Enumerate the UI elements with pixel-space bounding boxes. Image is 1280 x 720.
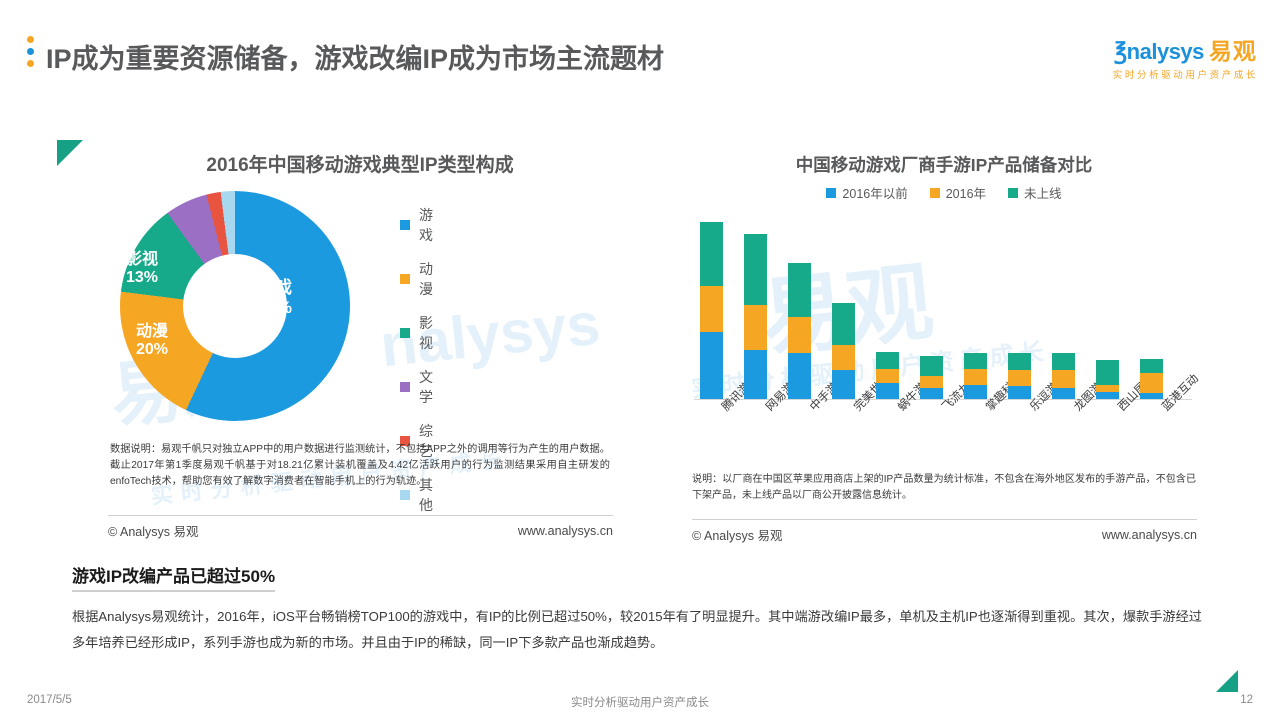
bar-segment [1140, 373, 1163, 393]
bar-column[interactable] [832, 303, 855, 399]
footer-page-number: 12 [1240, 694, 1253, 706]
pie-legend-item[interactable]: 游戏 [400, 205, 433, 245]
bar-segment [832, 345, 855, 371]
page-title: IP成为重要资源储备，游戏改编IP成为市场主流题材 [46, 37, 664, 76]
pie-legend-swatch-icon [400, 490, 410, 500]
pie-url[interactable]: www.analysys.cn [518, 524, 613, 538]
bar-column[interactable] [876, 352, 899, 399]
bar-legend-swatch-icon [930, 188, 940, 198]
page-footer: 2017/5/5 实时分析驱动用户资产成长 12 [0, 686, 1280, 720]
bar-column[interactable] [700, 222, 723, 399]
bar-segment [744, 350, 767, 399]
bar-column[interactable] [788, 263, 811, 399]
bar-segment [876, 369, 899, 383]
footer-slogan: 实时分析驱动用户资产成长 [0, 694, 1280, 710]
bar-chart-panel: 中国移动游戏厂商手游IP产品储备对比 2016年以前2016年未上线 腾讯游戏网… [688, 152, 1200, 400]
bar-segment [744, 305, 767, 351]
bar-segment [964, 369, 987, 385]
bar-segment [1096, 385, 1119, 392]
title-dots-icon [27, 36, 35, 72]
bar-segment [920, 356, 943, 376]
bar-column[interactable] [1008, 353, 1031, 399]
bar-segment [1008, 386, 1031, 399]
pie-legend-swatch-icon [400, 328, 410, 338]
bar-url[interactable]: www.analysys.cn [1102, 528, 1197, 542]
bar-segment [744, 234, 767, 304]
bar-column[interactable] [744, 234, 767, 399]
bar-segment [964, 385, 987, 399]
pie-legend-item[interactable]: 动漫 [400, 259, 433, 299]
bar-segment [1096, 360, 1119, 384]
bar-legend-label: 未上线 [1024, 183, 1062, 202]
bar-segment [964, 353, 987, 369]
pie-label-anime: 动漫 20% [136, 323, 168, 360]
bar-column[interactable] [1096, 360, 1119, 399]
bar-segment [920, 388, 943, 399]
bar-legend-item[interactable]: 2016年以前 [826, 183, 907, 202]
pie-chart-note: 数据说明：易观千帆只对独立APP中的用户数据进行监测统计，不包括APP之外的调用… [110, 442, 610, 489]
pie-chart-panel: 2016年中国移动游戏典型IP类型构成 游戏 57% 动漫 20% 影视 13%… [100, 150, 620, 433]
bar-chart-note: 说明：以厂商在中国区苹果应用商店上架的IP产品数量为统计标准，不包含在海外地区发… [692, 472, 1196, 503]
bar-segment [1140, 393, 1163, 399]
bar-column[interactable] [964, 353, 987, 399]
bar-legend-swatch-icon [1008, 188, 1018, 198]
pie-legend-label: 动漫 [419, 259, 433, 299]
bar-segment [700, 222, 723, 286]
pie-legend-item[interactable]: 影视 [400, 313, 433, 353]
donut-ring [120, 191, 350, 421]
bar-segment [832, 303, 855, 344]
summary-heading: 游戏IP改编产品已超过50% [72, 562, 275, 592]
bar-segment [788, 353, 811, 399]
pie-chart-title: 2016年中国移动游戏典型IP类型构成 [100, 150, 620, 177]
bar-segment [920, 376, 943, 387]
decor-triangle-left-icon [57, 140, 83, 166]
bar-segment [876, 383, 899, 399]
logo-cn-text: 易观 [1209, 38, 1257, 64]
bar-legend-label: 2016年 [946, 183, 986, 202]
bar-segment [832, 370, 855, 399]
pie-legend-label: 影视 [419, 313, 433, 353]
bar-legend-item[interactable]: 未上线 [1008, 183, 1062, 202]
pie-copyright: © Analysys 易观 [108, 521, 199, 540]
bar-segment [1096, 392, 1119, 399]
bar-chart-title: 中国移动游戏厂商手游IP产品储备对比 [688, 152, 1200, 177]
pie-label-game: 游戏 57% [258, 278, 292, 317]
bar-column[interactable] [1052, 353, 1075, 399]
bar-segment [788, 263, 811, 317]
bar-legend-label: 2016年以前 [842, 183, 907, 202]
pie-legend-swatch-icon [400, 382, 410, 392]
bar-segment [1052, 370, 1075, 387]
logo-tagline: 实时分析驱动用户资产成长 [1113, 67, 1258, 81]
bar-segment [700, 286, 723, 332]
bar-legend-swatch-icon [826, 188, 836, 198]
bar-segment [1052, 388, 1075, 399]
bar-source-line: © Analysys 易观 www.analysys.cn [692, 519, 1197, 544]
logo-wordmark: ℥nalysys易观 [1113, 32, 1258, 66]
pie-legend-label: 文学 [419, 367, 433, 407]
logo-swoosh-icon: ℥ [1114, 38, 1127, 65]
bar-x-label: 蓝港互动 [1158, 370, 1202, 414]
bar-segment [1008, 370, 1031, 386]
bar-segment [876, 352, 899, 369]
bar-legend: 2016年以前2016年未上线 [688, 183, 1200, 202]
summary-section: 游戏IP改编产品已超过50% 根据Analysys易观统计，2016年，iOS平… [72, 562, 1202, 655]
bar-chart: 腾讯游戏网易游戏中手游完美世界蜗牛游戏飞流九天掌趣科技乐逗游戏龙图游戏西山居蓝港… [694, 212, 1194, 400]
pie-source-line: © Analysys 易观 www.analysys.cn [108, 515, 613, 540]
pie-legend-swatch-icon [400, 274, 410, 284]
pie-chart: 游戏 57% 动漫 20% 影视 13% 游戏动漫影视文学综艺其他 [108, 183, 408, 433]
analysys-logo: ℥nalysys易观 实时分析驱动用户资产成长 [1113, 32, 1258, 81]
logo-main-text: nalysys [1127, 39, 1204, 64]
bar-legend-item[interactable]: 2016年 [930, 183, 986, 202]
summary-body: 根据Analysys易观统计，2016年，iOS平台畅销榜TOP100的游戏中，… [72, 604, 1202, 655]
bar-column[interactable] [920, 356, 943, 399]
pie-label-film: 影视 13% [126, 251, 158, 288]
pie-legend-swatch-icon [400, 220, 410, 230]
bar-x-axis-labels: 腾讯游戏网易游戏中手游完美世界蜗牛游戏飞流九天掌趣科技乐逗游戏龙图游戏西山居蓝港… [694, 401, 1194, 461]
pie-legend-label: 游戏 [419, 205, 433, 245]
bar-copyright: © Analysys 易观 [692, 525, 783, 544]
bar-column[interactable] [1140, 359, 1163, 399]
bar-segment [1008, 353, 1031, 370]
pie-legend-item[interactable]: 文学 [400, 367, 433, 407]
bar-segment [1052, 353, 1075, 370]
bar-segment [700, 332, 723, 399]
page-header: IP成为重要资源储备，游戏改编IP成为市场主流题材 ℥nalysys易观 实时分… [0, 0, 1280, 100]
bar-segment [1140, 359, 1163, 373]
bar-segment [788, 317, 811, 353]
